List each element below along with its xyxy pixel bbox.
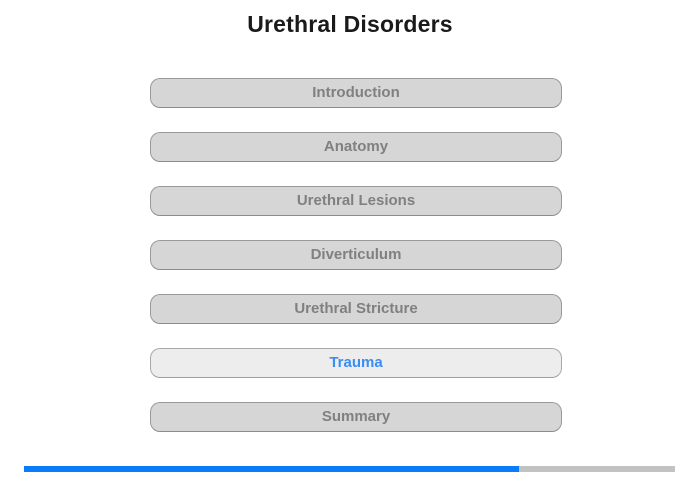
menu-item-introduction[interactable]: Introduction	[150, 78, 562, 108]
progress-bar-fill	[24, 466, 519, 472]
menu-item-label: Diverticulum	[311, 246, 402, 263]
menu-item-diverticulum[interactable]: Diverticulum	[150, 240, 562, 270]
menu-item-label: Summary	[322, 408, 390, 425]
menu-item-anatomy[interactable]: Anatomy	[150, 132, 562, 162]
progress-bar[interactable]	[24, 466, 675, 472]
menu-item-urethral-stricture[interactable]: Urethral Stricture	[150, 294, 562, 324]
menu-item-label: Trauma	[329, 354, 382, 371]
navigation-menu: Introduction Anatomy Urethral Lesions Di…	[150, 78, 562, 432]
menu-item-summary[interactable]: Summary	[150, 402, 562, 432]
menu-item-trauma[interactable]: Trauma	[150, 348, 562, 378]
menu-item-urethral-lesions[interactable]: Urethral Lesions	[150, 186, 562, 216]
menu-item-label: Urethral Lesions	[297, 192, 415, 209]
menu-item-label: Introduction	[312, 84, 399, 101]
menu-item-label: Urethral Stricture	[294, 300, 417, 317]
page-title: Urethral Disorders	[0, 10, 700, 38]
menu-item-label: Anatomy	[324, 138, 388, 155]
